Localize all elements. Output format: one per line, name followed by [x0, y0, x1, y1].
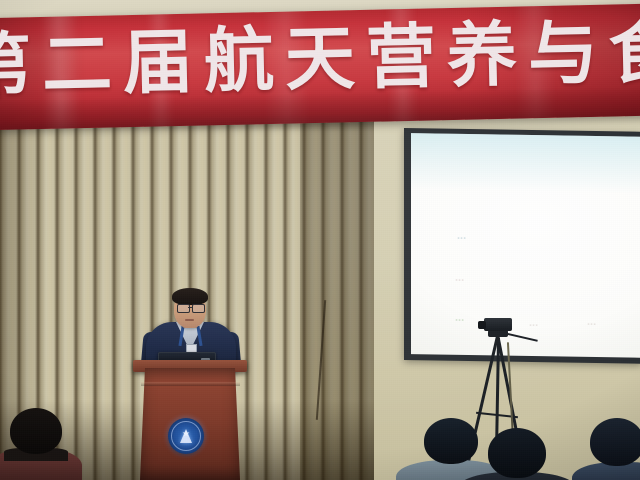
- audience-member-right-2: [466, 428, 566, 480]
- slide-faint-text-2: ...: [455, 272, 464, 284]
- audience-head: [10, 408, 62, 454]
- presenter-mouth: [185, 319, 194, 321]
- audience-member-right-3: [584, 418, 640, 480]
- aerospace-emblem-icon: ★: [168, 418, 204, 454]
- glasses-left-lens-icon: [177, 304, 190, 313]
- audience-head: [488, 428, 546, 478]
- tripod-pan-handle: [504, 332, 538, 342]
- camera-lens-icon: [478, 321, 486, 329]
- slide-faint-text-1: ...: [457, 230, 466, 242]
- photo-scene: ... ... ... ... ... 第二届航天营养与食品: [0, 0, 640, 480]
- video-camera-icon: [484, 318, 512, 331]
- audience-head: [590, 418, 640, 466]
- lectern-edge-highlight: [141, 382, 240, 386]
- glasses-bridge-icon: [188, 307, 192, 308]
- emblem-star-icon: ★: [182, 429, 190, 438]
- conference-banner: 第二届航天营养与食品: [0, 4, 640, 130]
- slide-faint-text-5: ...: [587, 316, 596, 328]
- audience-member-left: [0, 408, 76, 480]
- presenter-hair: [172, 288, 208, 305]
- glasses-right-lens-icon: [192, 304, 205, 313]
- projection-screen-tint: [411, 133, 640, 194]
